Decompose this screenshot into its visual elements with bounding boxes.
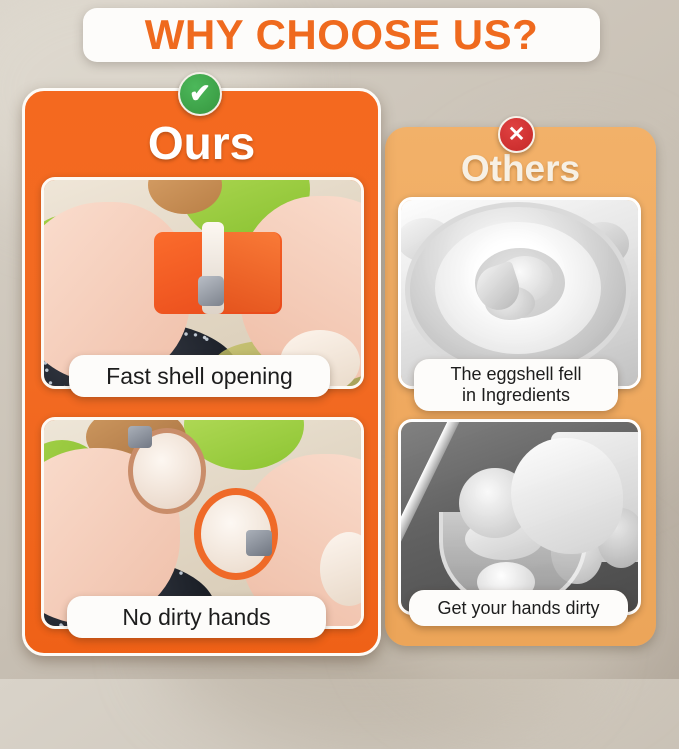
check-glyph: ✔ xyxy=(189,80,211,106)
x-circle-icon: ✕ xyxy=(498,116,535,153)
metal-clip-shape xyxy=(246,530,272,556)
ours-caption-2: No dirty hands xyxy=(67,596,326,638)
ours-caption-1: Fast shell opening xyxy=(69,355,330,397)
others-caption-1-line-1: The eggshell fell xyxy=(450,364,581,385)
ours-heading: Ours xyxy=(25,120,378,166)
others-heading: Others xyxy=(385,150,656,187)
check-circle-icon: ✔ xyxy=(178,72,222,116)
metal-clip-shape xyxy=(128,426,152,448)
photo-scene xyxy=(401,422,638,612)
page-title: WHY CHOOSE US? xyxy=(145,14,539,56)
others-caption-1: The eggshell fell in Ingredients xyxy=(414,359,618,411)
x-glyph: ✕ xyxy=(508,124,526,145)
metal-clip-shape xyxy=(198,276,224,306)
title-banner: WHY CHOOSE US? xyxy=(83,8,600,62)
others-photo-hands-dirty xyxy=(398,419,641,615)
others-caption-2: Get your hands dirty xyxy=(409,590,628,626)
others-caption-1-line-2: in Ingredients xyxy=(462,385,570,406)
